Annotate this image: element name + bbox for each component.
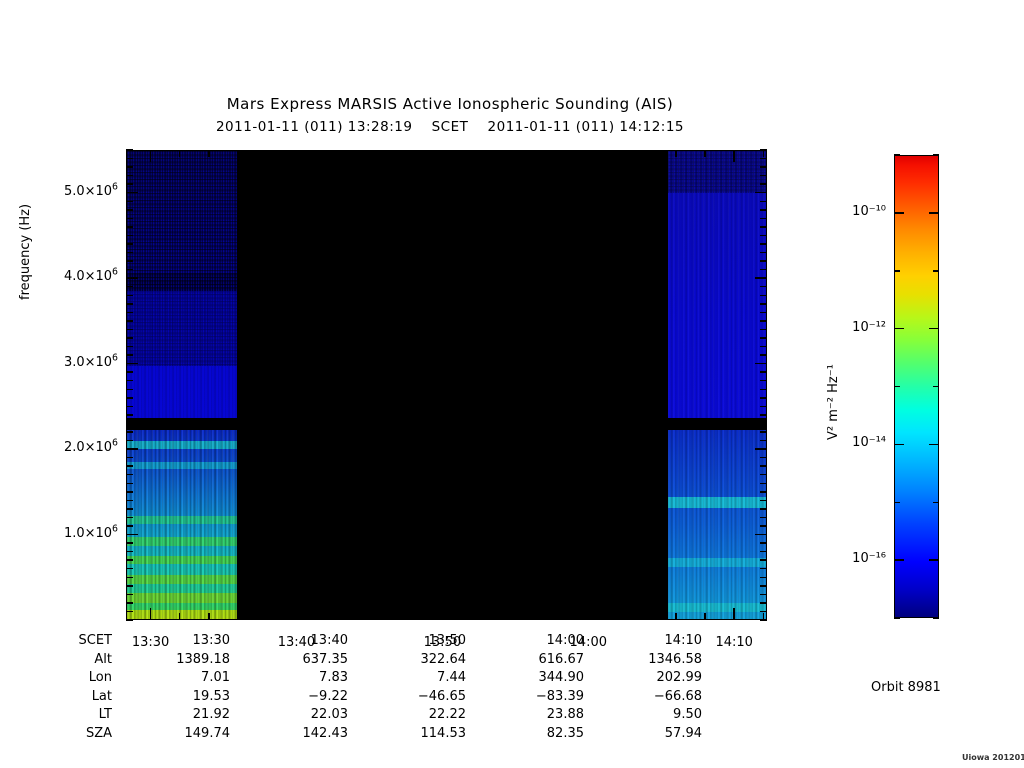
y-tick-left xyxy=(126,551,133,553)
row-label: LT xyxy=(56,706,112,725)
y-tick-right xyxy=(760,303,767,305)
x-tick-top xyxy=(354,150,356,157)
row-label: SZA xyxy=(56,725,112,744)
x-tick-bottom xyxy=(617,613,619,620)
y-tick-right xyxy=(760,602,767,604)
y-tick-right xyxy=(760,594,767,596)
x-tick-bottom xyxy=(471,613,473,620)
table-cell: 82.35 xyxy=(466,725,584,744)
y-tick-left xyxy=(126,175,133,177)
y-tick-label: 3.0×106 xyxy=(30,355,118,370)
y-tick-right xyxy=(760,201,767,203)
y-tick-right xyxy=(760,423,767,425)
x-tick-top xyxy=(733,150,735,162)
table-row: SZA149.74142.43114.5382.3557.94 xyxy=(56,725,702,744)
table-cell: 149.74 xyxy=(112,725,230,744)
colorbar-tick-right xyxy=(933,270,939,272)
y-tick-right xyxy=(760,226,767,228)
y-tick-right xyxy=(760,243,767,245)
colorbar-tick-label: 10⁻¹² xyxy=(816,320,886,335)
y-tick-left xyxy=(126,158,133,160)
x-tick-top xyxy=(675,150,677,157)
table-cell: 637.35 xyxy=(230,651,348,670)
colorbar-tick-left xyxy=(894,270,900,272)
y-tick-left xyxy=(126,585,133,587)
y-tick-left xyxy=(126,218,133,220)
colorbar-tick-right xyxy=(929,328,939,330)
page-title: Mars Express MARSIS Active Ionospheric S… xyxy=(0,95,900,113)
y-tick-right xyxy=(760,371,767,373)
table-cell: 14:00 xyxy=(466,632,584,651)
y-tick-left xyxy=(126,260,133,262)
y-tick-right xyxy=(760,329,767,331)
table-cell: 344.90 xyxy=(466,669,584,688)
y-tick-right xyxy=(760,175,767,177)
table-row: Alt1389.18637.35322.64616.671346.58 xyxy=(56,651,702,670)
y-tick-left xyxy=(126,517,133,519)
y-tick-right xyxy=(760,542,767,544)
colorbar-tick-right xyxy=(933,154,939,156)
ephemeris-table-body: SCET13:3013:4013:5014:0014:10Alt1389.186… xyxy=(56,632,702,744)
table-cell: 19.53 xyxy=(112,688,230,707)
x-tick-bottom xyxy=(704,613,706,620)
y-tick-label: 5.0×106 xyxy=(30,184,118,199)
y-tick-right xyxy=(760,483,767,485)
y-tick-right xyxy=(760,183,767,185)
row-label: Lat xyxy=(56,688,112,707)
colorbar-tick-right xyxy=(933,502,939,504)
y-tick-left xyxy=(126,542,133,544)
table-cell: 7.83 xyxy=(230,669,348,688)
y-tick-left xyxy=(126,269,133,271)
y-tick-left xyxy=(126,235,133,237)
y-tick-right xyxy=(755,363,767,365)
y-tick-right xyxy=(760,158,767,160)
y-tick-left xyxy=(126,602,133,604)
orbit-label: Orbit 8981 xyxy=(871,680,941,695)
y-tick-left xyxy=(126,491,133,493)
y-tick-label: 2.0×106 xyxy=(30,440,118,455)
table-cell: 616.67 xyxy=(466,651,584,670)
table-cell: 14:10 xyxy=(584,632,702,651)
y-tick-left xyxy=(126,354,133,356)
y-tick-left xyxy=(126,380,133,382)
x-tick-top xyxy=(296,150,298,162)
colorbar-tick-right xyxy=(929,444,939,446)
y-tick-left xyxy=(126,465,133,467)
colorbar-tick-right xyxy=(929,559,939,561)
ephemeris-table: SCET13:3013:4013:5014:0014:10Alt1389.186… xyxy=(56,632,702,744)
x-tick-bottom xyxy=(442,608,444,620)
y-tick-left xyxy=(126,166,133,168)
x-tick-top xyxy=(442,150,444,162)
y-tick-left xyxy=(126,508,133,510)
y-tick-right xyxy=(760,380,767,382)
y-tick-left xyxy=(126,346,133,348)
y-tick-left xyxy=(126,320,133,322)
y-tick-left xyxy=(126,312,133,314)
y-tick-right xyxy=(760,431,767,433)
y-tick-right xyxy=(760,551,767,553)
table-row: LT21.9222.0322.2223.889.50 xyxy=(56,706,702,725)
y-tick-right xyxy=(760,568,767,570)
y-tick-right xyxy=(755,192,767,194)
y-tick-right xyxy=(760,414,767,416)
x-tick-top xyxy=(412,150,414,157)
y-tick-left xyxy=(126,192,138,194)
row-label: SCET xyxy=(56,632,112,651)
y-tick-right xyxy=(760,397,767,399)
y-tick-right xyxy=(760,585,767,587)
x-tick-top xyxy=(208,150,210,157)
x-tick-top xyxy=(529,150,531,157)
y-tick-left xyxy=(126,611,133,613)
y-tick-right xyxy=(760,474,767,476)
y-tick-left xyxy=(126,209,133,211)
table-cell: 57.94 xyxy=(584,725,702,744)
y-axis-title: frequency (Hz) xyxy=(18,204,33,300)
colorbar-tick-label: 10⁻¹⁰ xyxy=(816,204,886,219)
x-tick-top xyxy=(383,150,385,157)
x-tick-top xyxy=(267,150,269,157)
table-cell: 13:40 xyxy=(230,632,348,651)
table-row: SCET13:3013:4013:5014:0014:10 xyxy=(56,632,702,651)
y-tick-left xyxy=(126,577,133,579)
x-tick-top xyxy=(237,150,239,157)
y-tick-right xyxy=(760,577,767,579)
y-tick-right xyxy=(760,218,767,220)
y-tick-left xyxy=(126,440,133,442)
colorbar-title: V² m⁻² Hz⁻¹ xyxy=(826,364,841,440)
y-tick-right xyxy=(760,209,767,211)
x-tick-bottom xyxy=(675,613,677,620)
table-cell: 7.44 xyxy=(348,669,466,688)
x-tick-bottom xyxy=(267,613,269,620)
y-tick-right xyxy=(760,508,767,510)
y-tick-right xyxy=(760,235,767,237)
y-tick-left xyxy=(126,329,133,331)
x-tick-bottom xyxy=(733,608,735,620)
x-tick-top xyxy=(500,150,502,157)
y-tick-right xyxy=(760,440,767,442)
table-cell: 322.64 xyxy=(348,651,466,670)
table-cell: 13:30 xyxy=(112,632,230,651)
y-tick-label: 4.0×106 xyxy=(30,269,118,284)
y-tick-right xyxy=(755,277,767,279)
y-tick-label: 1.0×106 xyxy=(30,526,118,541)
y-tick-right xyxy=(760,286,767,288)
y-tick-right xyxy=(760,389,767,391)
y-tick-right xyxy=(760,337,767,339)
y-tick-right xyxy=(760,457,767,459)
y-tick-left xyxy=(126,431,133,433)
spectrogram-segment-left xyxy=(127,151,237,619)
table-row: Lat19.53−9.22−46.65−83.39−66.68 xyxy=(56,688,702,707)
y-tick-left xyxy=(126,559,133,561)
y-tick-right xyxy=(760,406,767,408)
x-tick-bottom xyxy=(529,613,531,620)
x-tick-bottom xyxy=(354,613,356,620)
y-tick-left xyxy=(126,277,138,279)
spectrogram-plot[interactable] xyxy=(126,150,767,620)
y-tick-left xyxy=(126,243,133,245)
table-cell: 1389.18 xyxy=(112,651,230,670)
y-tick-left xyxy=(126,397,133,399)
x-tick-top xyxy=(763,150,765,157)
colorbar-tick-left xyxy=(894,386,900,388)
row-label: Lon xyxy=(56,669,112,688)
x-tick-bottom xyxy=(588,608,590,620)
y-tick-right xyxy=(760,354,767,356)
table-cell: 114.53 xyxy=(348,725,466,744)
x-tick-top xyxy=(704,150,706,157)
y-tick-right xyxy=(760,252,767,254)
table-cell: 7.01 xyxy=(112,669,230,688)
y-tick-left xyxy=(126,423,133,425)
x-tick-bottom xyxy=(412,613,414,620)
y-tick-left xyxy=(126,337,133,339)
y-tick-right xyxy=(760,346,767,348)
x-tick-top xyxy=(471,150,473,157)
y-tick-right xyxy=(760,312,767,314)
y-tick-left xyxy=(126,406,133,408)
colorbar-tick-left xyxy=(894,502,900,504)
x-tick-top xyxy=(558,150,560,157)
spectrogram-segment-right xyxy=(668,151,766,619)
y-tick-left xyxy=(126,474,133,476)
x-tick-bottom xyxy=(500,613,502,620)
table-cell: −9.22 xyxy=(230,688,348,707)
x-tick-bottom xyxy=(383,613,385,620)
y-tick-left xyxy=(126,414,133,416)
x-tick-top xyxy=(179,150,181,157)
x-tick-bottom xyxy=(646,613,648,620)
x-tick-bottom xyxy=(208,613,210,620)
colorbar-tick-left xyxy=(894,444,904,446)
y-tick-right xyxy=(760,500,767,502)
colorbar-tick-label: 10⁻¹⁶ xyxy=(816,551,886,566)
y-tick-left xyxy=(126,525,133,527)
y-tick-right xyxy=(760,166,767,168)
y-tick-left xyxy=(126,149,133,151)
y-tick-left xyxy=(126,619,133,621)
table-cell: 142.43 xyxy=(230,725,348,744)
y-tick-left xyxy=(126,371,133,373)
colorbar-tick-right xyxy=(929,212,939,214)
table-cell: 13:50 xyxy=(348,632,466,651)
y-tick-left xyxy=(126,183,133,185)
x-tick-bottom xyxy=(150,608,152,620)
x-tick-top xyxy=(588,150,590,162)
table-cell: 21.92 xyxy=(112,706,230,725)
colorbar-tick-left xyxy=(894,617,900,619)
table-cell: 22.22 xyxy=(348,706,466,725)
x-tick-bottom xyxy=(325,613,327,620)
y-tick-right xyxy=(760,525,767,527)
y-tick-right xyxy=(760,611,767,613)
x-tick-bottom xyxy=(237,613,239,620)
y-tick-right xyxy=(760,320,767,322)
y-tick-left xyxy=(126,295,133,297)
x-tick-top xyxy=(646,150,648,157)
table-cell: 9.50 xyxy=(584,706,702,725)
y-tick-left xyxy=(126,201,133,203)
colorbar-tick-right xyxy=(933,617,939,619)
table-cell: −46.65 xyxy=(348,688,466,707)
colorbar-tick-left xyxy=(894,328,904,330)
colorbar-tick-right xyxy=(933,386,939,388)
y-tick-right xyxy=(760,260,767,262)
colorbar-tick-left xyxy=(894,212,904,214)
x-tick-bottom xyxy=(296,608,298,620)
table-cell: 23.88 xyxy=(466,706,584,725)
y-tick-left xyxy=(126,457,133,459)
x-tick-top xyxy=(325,150,327,157)
table-cell: 1346.58 xyxy=(584,651,702,670)
watermark-label: Uiowa 20120106 xyxy=(962,753,1024,762)
y-tick-right xyxy=(755,534,767,536)
table-cell: −83.39 xyxy=(466,688,584,707)
y-tick-left xyxy=(126,534,138,536)
y-tick-left xyxy=(126,303,133,305)
table-cell: 202.99 xyxy=(584,669,702,688)
y-tick-right xyxy=(760,559,767,561)
x-tick-top xyxy=(150,150,152,162)
y-tick-right xyxy=(755,448,767,450)
y-tick-right xyxy=(760,465,767,467)
y-tick-left xyxy=(126,500,133,502)
y-tick-left xyxy=(126,448,138,450)
y-tick-left xyxy=(126,568,133,570)
y-tick-left xyxy=(126,252,133,254)
y-tick-left xyxy=(126,389,133,391)
x-tick-bottom xyxy=(179,613,181,620)
y-tick-left xyxy=(126,363,138,365)
colorbar-tick-left xyxy=(894,559,904,561)
row-label: Alt xyxy=(56,651,112,670)
y-tick-left xyxy=(126,286,133,288)
table-cell: 22.03 xyxy=(230,706,348,725)
colorbar-tick-left xyxy=(894,154,900,156)
y-tick-left xyxy=(126,226,133,228)
y-tick-right xyxy=(760,517,767,519)
y-tick-right xyxy=(760,295,767,297)
y-tick-right xyxy=(760,491,767,493)
x-tick-bottom xyxy=(558,613,560,620)
table-cell: −66.68 xyxy=(584,688,702,707)
x-tick-top xyxy=(617,150,619,157)
page-subtitle: 2011-01-11 (011) 13:28:19 SCET 2011-01-1… xyxy=(0,119,900,135)
y-tick-right xyxy=(760,269,767,271)
y-tick-left xyxy=(126,594,133,596)
y-tick-left xyxy=(126,483,133,485)
x-tick-bottom xyxy=(763,613,765,620)
table-row: Lon7.017.837.44344.90202.99 xyxy=(56,669,702,688)
